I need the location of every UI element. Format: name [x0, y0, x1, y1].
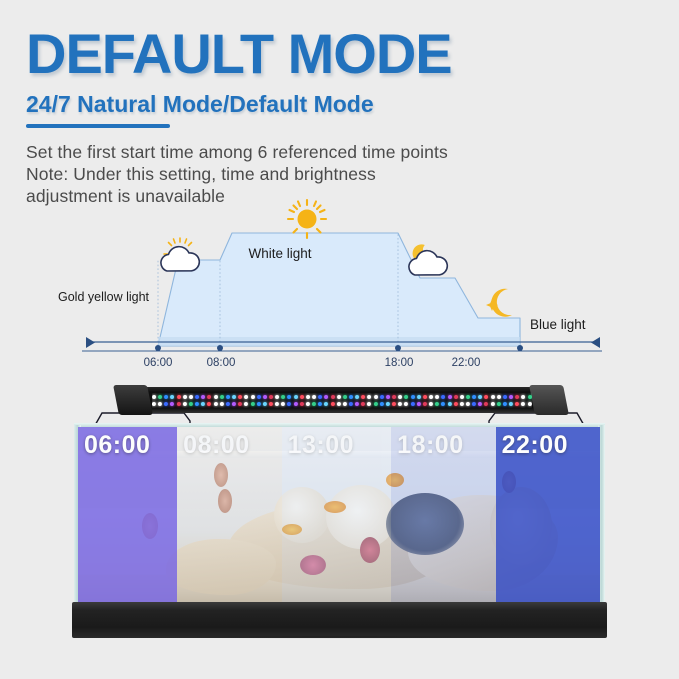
led-dot — [201, 395, 205, 399]
led-dot — [410, 402, 414, 406]
led-dot — [361, 395, 365, 399]
led-dot — [411, 395, 415, 399]
led-dot — [293, 402, 297, 406]
led-light-bar — [122, 387, 560, 413]
led-dot — [355, 395, 359, 399]
light-profile-chart: 06:00 08:00 18:00 22:00 Gold yellow ligh… — [0, 196, 679, 368]
led-dot — [189, 395, 193, 399]
led-dot — [306, 395, 310, 399]
led-dot — [330, 402, 334, 406]
chart-svg: 06:00 08:00 18:00 22:00 Gold yellow ligh… — [0, 196, 679, 368]
led-dot — [287, 402, 291, 406]
annotation-white-light: White light — [248, 246, 311, 261]
led-dot — [318, 402, 322, 406]
led-dot — [515, 402, 519, 406]
led-dot — [460, 402, 464, 406]
led-dot — [509, 395, 513, 399]
sun-icon — [288, 200, 326, 238]
led-dot — [250, 402, 254, 406]
led-dot — [275, 402, 279, 406]
led-dot — [374, 395, 378, 399]
led-dot — [318, 395, 322, 399]
led-dot — [380, 402, 384, 406]
led-dot — [503, 402, 507, 406]
led-dot — [441, 395, 445, 399]
led-dot — [349, 402, 353, 406]
time-panel-label: 08:00 — [183, 431, 249, 459]
led-dot — [521, 395, 525, 399]
tick-label-0800: 08:00 — [207, 357, 236, 368]
led-dot — [294, 395, 298, 399]
annotation-blue-light: Blue light — [530, 317, 586, 332]
led-dot — [158, 395, 162, 399]
led-dot — [257, 395, 261, 399]
led-dot — [152, 402, 156, 406]
led-dot — [435, 395, 439, 399]
led-dot — [220, 395, 224, 399]
sun-behind-cloud-icon — [161, 238, 199, 271]
led-dot — [448, 395, 452, 399]
tank-shadow — [80, 636, 599, 644]
led-dot — [441, 402, 445, 406]
led-dot — [490, 402, 494, 406]
led-dot — [435, 402, 439, 406]
time-panel-0600: 06:00 — [78, 427, 177, 605]
time-color-panels: 06:0008:0013:0018:0022:00 — [78, 427, 600, 605]
time-panel-label: 22:00 — [502, 431, 568, 459]
page-subtitle: 24/7 Natural Mode/Default Mode — [26, 90, 646, 118]
led-dot — [367, 402, 371, 406]
led-dot — [528, 395, 532, 399]
aquarium-illustration: 06:0008:0013:0018:0022:00 — [72, 381, 607, 646]
tick-label-0600: 06:00 — [144, 357, 173, 368]
led-dot — [454, 402, 458, 406]
tick-dot-end — [517, 345, 523, 351]
led-dot — [244, 395, 248, 399]
header: DEFAULT MODE 24/7 Natural Mode/Default M… — [26, 24, 646, 118]
led-dot — [484, 395, 488, 399]
led-dot — [521, 402, 525, 406]
crescent-moon-icon — [486, 289, 512, 317]
led-dot — [183, 402, 187, 406]
time-panel-0800: 08:00 — [177, 427, 281, 605]
tick-dot-1800 — [395, 345, 401, 351]
led-dot — [472, 402, 476, 406]
led-dot — [466, 402, 470, 406]
led-dot — [343, 395, 347, 399]
title-divider — [26, 124, 170, 128]
led-dot — [195, 402, 199, 406]
tick-label-2200: 22:00 — [452, 357, 481, 368]
led-dot — [374, 402, 378, 406]
led-strip — [152, 393, 532, 408]
led-dot — [447, 402, 451, 406]
led-dot — [170, 402, 174, 406]
description-line-2: Note: Under this setting, time and brigh… — [26, 163, 586, 185]
led-dot — [386, 402, 390, 406]
light-intensity-area — [158, 233, 520, 346]
led-dot — [263, 395, 267, 399]
led-dot — [367, 395, 371, 399]
led-bar-left-cap — [113, 385, 153, 415]
led-dot — [331, 395, 335, 399]
time-panel-label: 13:00 — [288, 431, 354, 459]
led-dot — [478, 402, 482, 406]
led-dot — [398, 402, 402, 406]
tick-dot-0800 — [217, 345, 223, 351]
led-dot — [472, 395, 476, 399]
led-dot — [324, 402, 328, 406]
led-dot — [207, 395, 211, 399]
led-dot — [312, 395, 316, 399]
led-dot — [337, 395, 341, 399]
time-panel-1800: 18:00 — [391, 427, 495, 605]
led-dot — [398, 395, 402, 399]
led-dot — [423, 395, 427, 399]
led-dot — [269, 395, 273, 399]
led-dot — [417, 395, 421, 399]
led-dot — [232, 402, 236, 406]
led-dot — [177, 402, 181, 406]
tank-stand — [72, 602, 607, 638]
led-dot — [343, 402, 347, 406]
led-dot — [497, 395, 501, 399]
annotation-gold-yellow-light: Gold yellow light — [58, 290, 150, 304]
led-dot — [170, 395, 174, 399]
led-dot — [454, 395, 458, 399]
aquascape-scene: 06:0008:0013:0018:0022:00 — [78, 427, 600, 605]
tank-interior: 06:0008:0013:0018:0022:00 — [78, 427, 600, 605]
led-dot — [281, 395, 285, 399]
led-dot — [213, 402, 217, 406]
led-dot — [189, 402, 193, 406]
led-dot — [306, 402, 310, 406]
led-dot — [466, 395, 470, 399]
led-dot — [515, 395, 519, 399]
led-dot — [164, 402, 168, 406]
led-dot — [244, 402, 248, 406]
axis-arrow-left-icon — [86, 337, 95, 348]
led-dot — [337, 402, 341, 406]
led-dot — [214, 395, 218, 399]
time-panel-label: 18:00 — [397, 431, 463, 459]
led-dot — [158, 402, 162, 406]
led-dot — [484, 402, 488, 406]
led-dot — [263, 402, 267, 406]
led-dot — [423, 402, 427, 406]
time-panel-2200: 22:00 — [496, 427, 600, 605]
led-dot — [417, 402, 421, 406]
led-dot — [478, 395, 482, 399]
led-dot — [312, 402, 316, 406]
led-dot — [281, 402, 285, 406]
led-dot — [220, 402, 224, 406]
led-dot — [201, 402, 205, 406]
led-dot — [238, 402, 242, 406]
led-bar-right-cap — [529, 385, 569, 415]
description-line-1: Set the first start time among 6 referen… — [26, 141, 586, 163]
led-dot — [324, 395, 328, 399]
page-root: DEFAULT MODE 24/7 Natural Mode/Default M… — [0, 0, 679, 679]
led-dot — [497, 402, 501, 406]
led-dot — [275, 395, 279, 399]
led-dot — [300, 402, 304, 406]
led-dot — [392, 395, 396, 399]
tick-dot-0600 — [155, 345, 161, 351]
led-dot — [152, 395, 156, 399]
led-dot — [361, 402, 365, 406]
led-dot — [429, 395, 433, 399]
page-title: DEFAULT MODE — [26, 24, 646, 84]
led-dot — [527, 402, 531, 406]
led-dot — [404, 402, 408, 406]
time-panel-1300: 13:00 — [282, 427, 392, 605]
led-dot — [503, 395, 507, 399]
led-dot — [386, 395, 390, 399]
led-dot — [392, 402, 396, 406]
led-dot — [287, 395, 291, 399]
led-dot — [355, 402, 359, 406]
tick-label-1800: 18:00 — [385, 357, 414, 368]
axis-arrow-right-icon — [591, 337, 600, 348]
led-dot — [349, 395, 353, 399]
led-dot — [251, 395, 255, 399]
led-dot — [460, 395, 464, 399]
led-dot — [257, 402, 261, 406]
led-dot — [509, 402, 513, 406]
led-dot — [232, 395, 236, 399]
moon-behind-cloud-icon — [409, 242, 447, 275]
led-dot — [404, 395, 408, 399]
led-dot — [491, 395, 495, 399]
led-dot — [195, 395, 199, 399]
led-dot — [226, 395, 230, 399]
led-dot — [164, 395, 168, 399]
led-dot — [300, 395, 304, 399]
time-panel-label: 06:00 — [84, 431, 150, 459]
led-dot — [269, 402, 273, 406]
led-dot — [177, 395, 181, 399]
led-dot — [429, 402, 433, 406]
led-dot — [226, 402, 230, 406]
led-dot — [207, 402, 211, 406]
led-dot — [380, 395, 384, 399]
led-dot — [238, 395, 242, 399]
led-dot — [183, 395, 187, 399]
